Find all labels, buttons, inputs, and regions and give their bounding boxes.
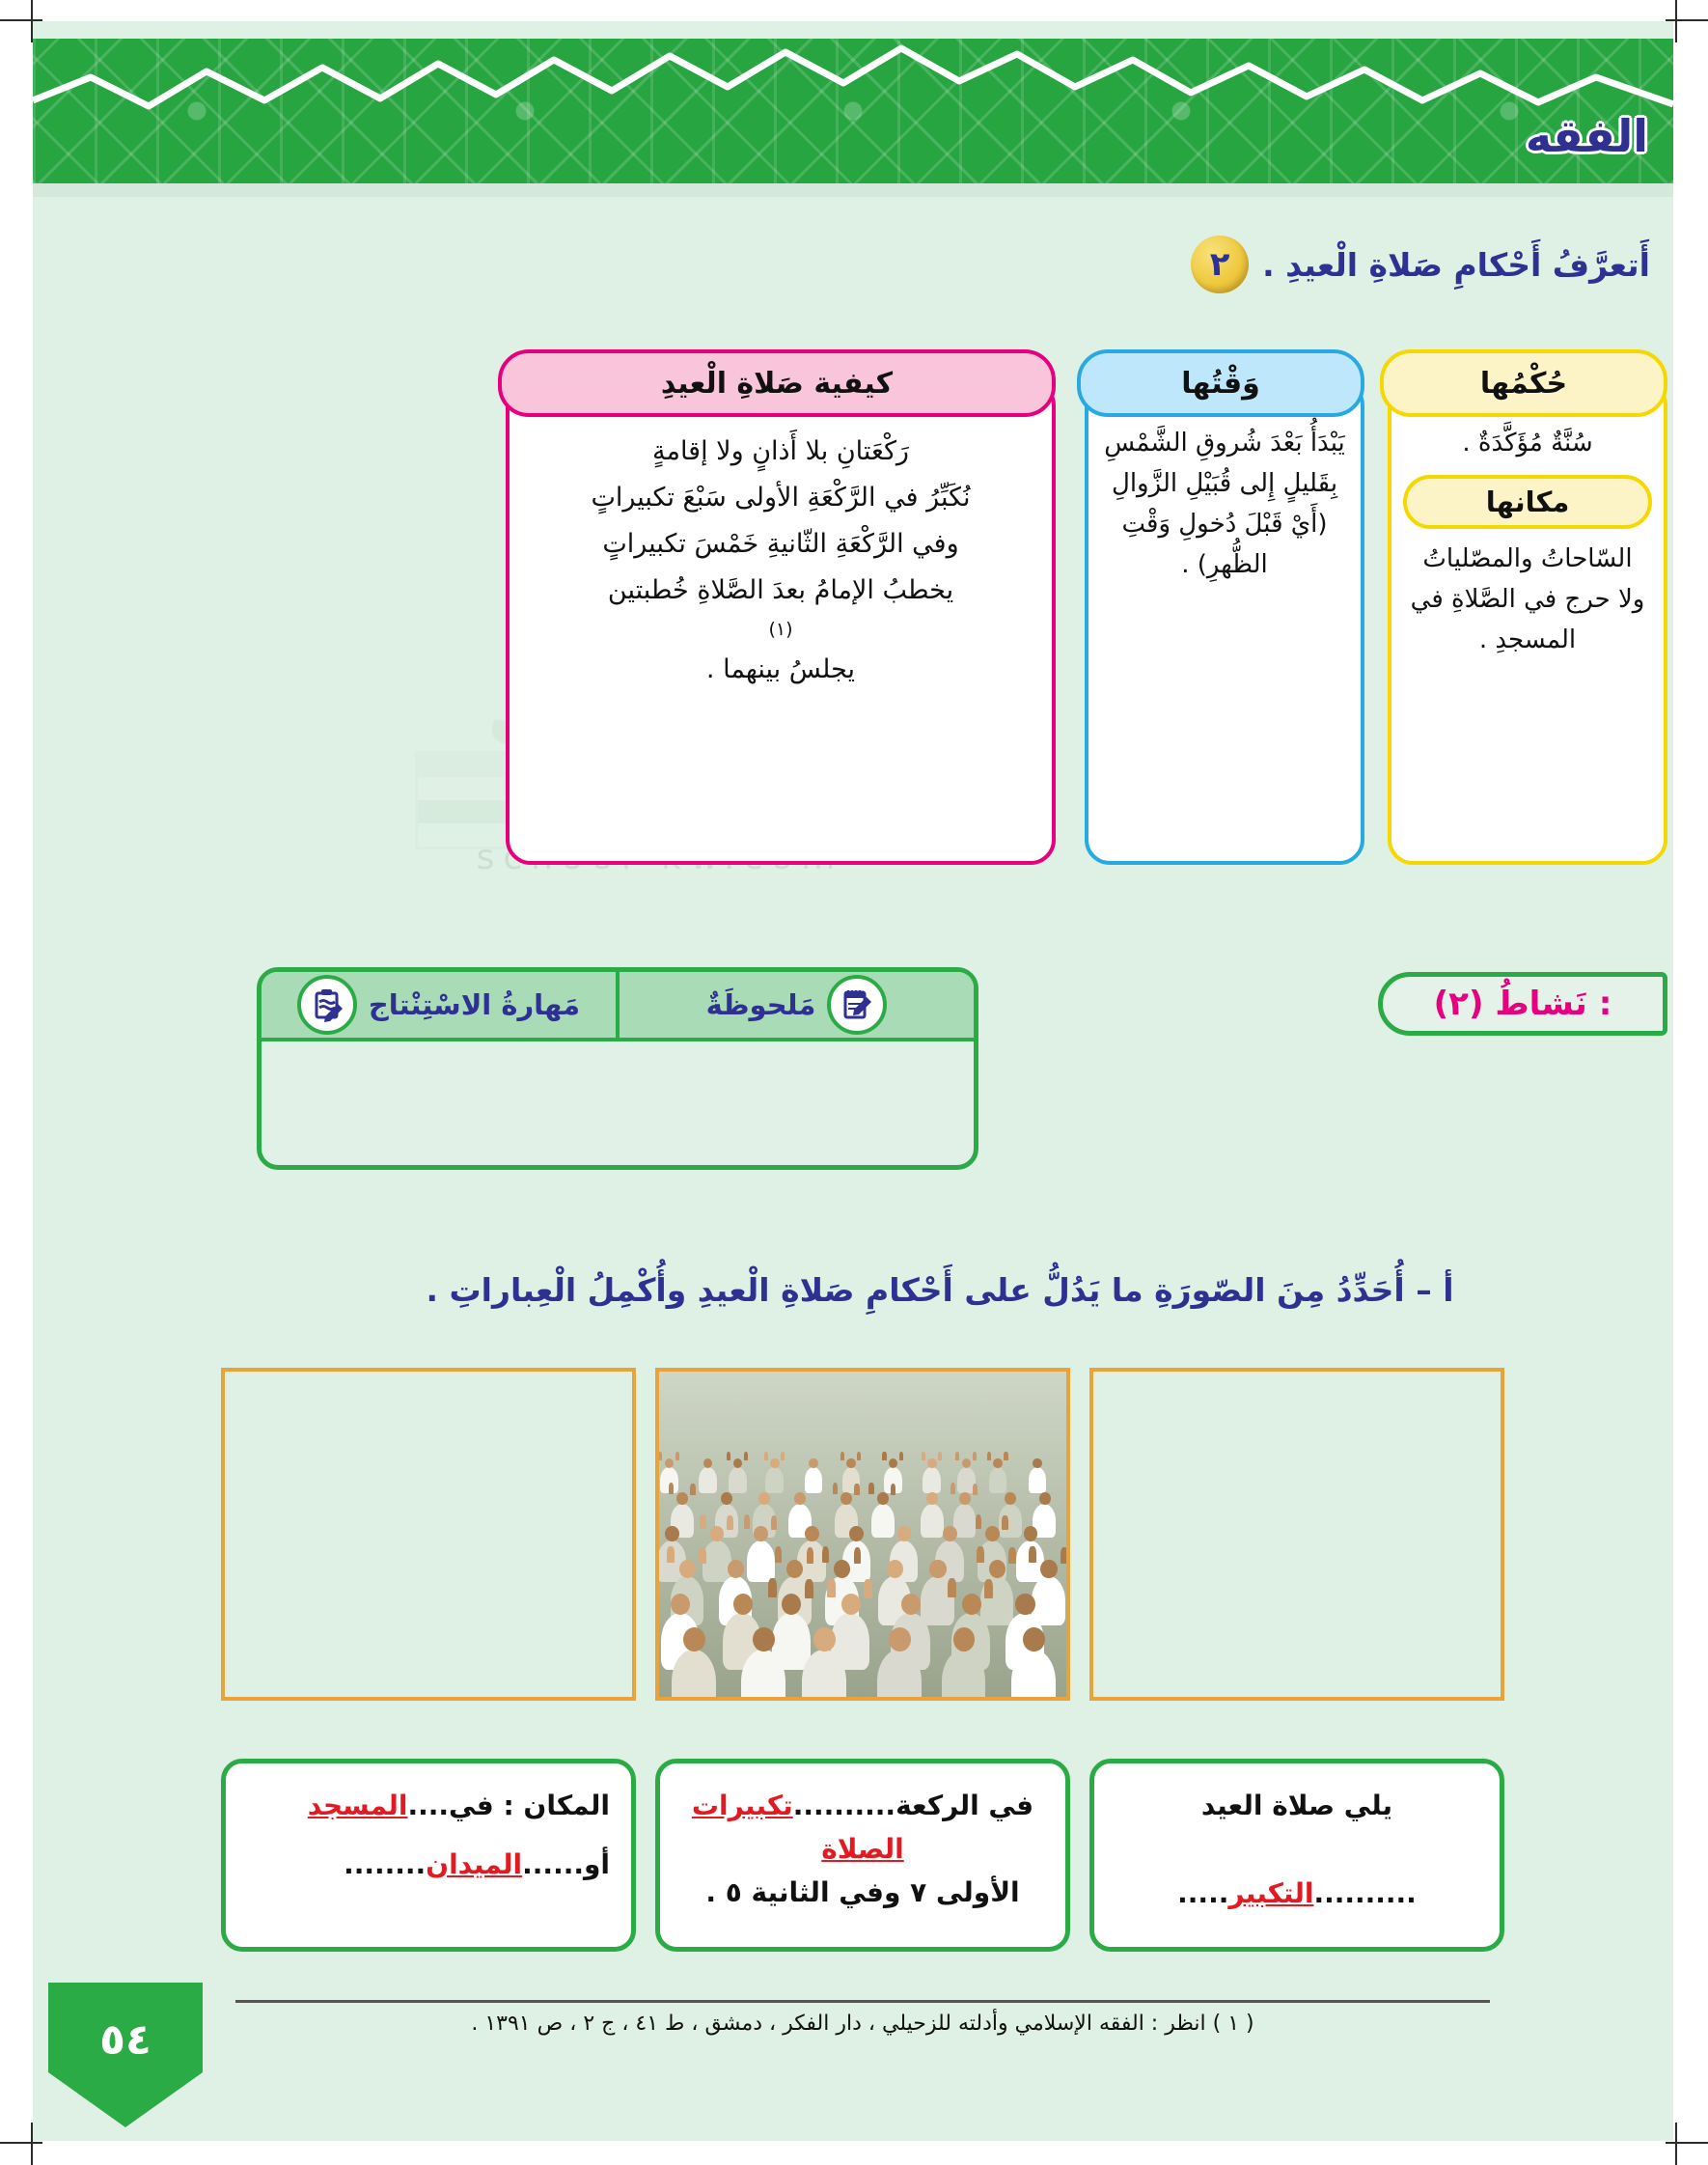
photo-khateeb xyxy=(221,1368,636,1701)
answer-ink: تكبيرات xyxy=(692,1790,793,1821)
subject-title: الفقه xyxy=(1526,110,1648,162)
answer-box-makan[interactable]: المكان : في....المسجد أو......الميدان...… xyxy=(221,1759,636,1952)
footnote-text: ( ١ ) انظر : الفقه الإسلامي وأدلته للزحي… xyxy=(235,2012,1490,2036)
crop-mark xyxy=(1675,0,1677,42)
skill-cell-mulahaza: مَلحوظَةٌ xyxy=(620,975,974,1035)
answer-dots: ........ xyxy=(344,1848,426,1880)
answer-line: الأولى ٧ وفي الثانية ٥ . xyxy=(681,1872,1044,1915)
skill-label-istintaj: مَهارةُ الاسْتِنْتاج xyxy=(369,988,580,1021)
concept-body-waqt: يَبْدَأُ بَعْدَ شُروقِ الشَّمْسِ بِقَليل… xyxy=(1085,380,1364,865)
section-heading: أَتعرَّفُ أَحْكامِ صَلاةِ الْعيدِ . ٢ xyxy=(1191,236,1650,293)
answer-box-takbir[interactable]: يلي صلاة العيد ..........التكبير..... xyxy=(1089,1759,1504,1952)
kayfia-line: وفي الرَّكْعَةِ الثّانيةِ خَمْسَ تكبيرات… xyxy=(535,521,1027,568)
photo-outdoor-rows xyxy=(1089,1368,1504,1701)
answer-ink: المسجد xyxy=(308,1790,408,1821)
section-number-badge: ٢ xyxy=(1191,236,1249,293)
answer-ink: التكبير xyxy=(1228,1877,1313,1909)
skill-cell-istintaj: مَهارةُ الاسْتِنْتاج xyxy=(262,975,616,1035)
skill-note-box: مَلحوظَةٌ مَهارةُ الاسْتِنْتاج xyxy=(257,967,978,1170)
answer-line: أو......الميدان........ xyxy=(247,1844,610,1887)
concept-body-kayfia: رَكْعَتانِ بلا أَذانٍ ولا إقامةٍ نُكَبِّ… xyxy=(506,380,1056,865)
footnote-marker: (١) xyxy=(535,614,1027,647)
kayfia-line: يجلسُ بينهما . xyxy=(535,647,1027,693)
skill-strip-divider xyxy=(616,972,620,1038)
answer-dots: ..... xyxy=(1177,1877,1228,1909)
scallop-divider-icon xyxy=(33,39,1673,125)
answer-label: المكان : xyxy=(503,1790,610,1821)
makan-value: السّاحاتُ والمصّلياتُ ولا حرج في الصَّلا… xyxy=(1407,539,1648,660)
skill-label-mulahaza: مَلحوظَةٌ xyxy=(706,988,816,1021)
skill-strip: مَلحوظَةٌ مَهارةُ الاسْتِنْتاج xyxy=(262,972,974,1041)
concept-header-waqt: وَقْتُها xyxy=(1077,349,1364,417)
clipboard-pencil-icon xyxy=(297,975,357,1035)
answer-dots: ...... xyxy=(522,1848,584,1880)
concept-body-hukm: سُنَّةٌ مُؤَكَّدَةٌ . السّاحاتُ والمصّلي… xyxy=(1388,380,1667,865)
notepad-pencil-icon xyxy=(827,975,887,1035)
answer-ink: الميدان xyxy=(426,1848,522,1880)
page-root: الفقه مدرستي الكويتية school-kw.com أَتع… xyxy=(0,0,1708,2165)
answer-dots: .... xyxy=(408,1790,450,1821)
page-number-tab: ٥٤ xyxy=(48,1983,203,2127)
question-a: أ – أُحَدِّدُ مِنَ الصّورَةِ ما يَدُلُّ … xyxy=(245,1271,1635,1309)
kayfia-line: يخطبُ الإمامُ بعدَ الصَّلاةِ خُطبتين xyxy=(535,568,1027,614)
answer-text: أو xyxy=(584,1848,610,1880)
answer-dots: .......... xyxy=(1313,1877,1416,1909)
activity-label: نَشاطُ (٢) xyxy=(1434,985,1587,1023)
kayfia-line: رَكْعَتانِ بلا أَذانٍ ولا إقامةٍ xyxy=(535,429,1027,475)
concept-header-hukm: حُكْمُها xyxy=(1380,349,1667,417)
answer-line: المكان : في....المسجد xyxy=(247,1785,610,1828)
answer-line: ..........التكبير..... xyxy=(1116,1873,1478,1916)
activity-label-box: : نَشاطُ (٢) xyxy=(1378,972,1667,1036)
concept-header-kayfia: كيفية صَلاةِ الْعيدِ xyxy=(498,349,1056,417)
footnote-rule xyxy=(235,2000,1490,2003)
crop-mark xyxy=(1666,2142,1708,2144)
answer-line: الصلاة xyxy=(681,1828,1044,1872)
answer-ink: الصلاة xyxy=(821,1833,904,1865)
page-header-band: الفقه xyxy=(33,39,1673,183)
hukm-value: سُنَّةٌ مُؤَكَّدَةٌ . xyxy=(1407,423,1648,463)
activity-colon: : xyxy=(1599,985,1612,1023)
page-sheet: الفقه مدرستي الكويتية school-kw.com أَتع… xyxy=(33,21,1673,2141)
header-underline-strip xyxy=(33,183,1673,197)
answer-text: في xyxy=(449,1790,494,1821)
answer-line: في الركعة..........تكبيرات xyxy=(681,1785,1044,1828)
crop-mark xyxy=(1675,2123,1677,2165)
concept-subheader-makan: مكانها xyxy=(1403,475,1652,529)
answer-box-takbirat[interactable]: في الركعة..........تكبيرات الصلاة الأولى… xyxy=(655,1759,1070,1952)
answer-text: في الركعة xyxy=(895,1790,1033,1821)
page-number: ٥٤ xyxy=(48,2015,203,2065)
crop-mark xyxy=(0,2142,42,2144)
kayfia-line: نُكَبِّرُ في الرَّكْعَةِ الأولى سَبْعَ ت… xyxy=(535,475,1027,521)
photo-crowd-takbir xyxy=(655,1368,1070,1701)
section-title: أَتعرَّفُ أَحْكامِ صَلاةِ الْعيدِ . xyxy=(1262,246,1650,284)
skill-answer-writing-area[interactable] xyxy=(262,1038,974,1165)
answer-line: يلي صلاة العيد xyxy=(1116,1785,1478,1828)
answer-dots: .......... xyxy=(793,1790,895,1821)
